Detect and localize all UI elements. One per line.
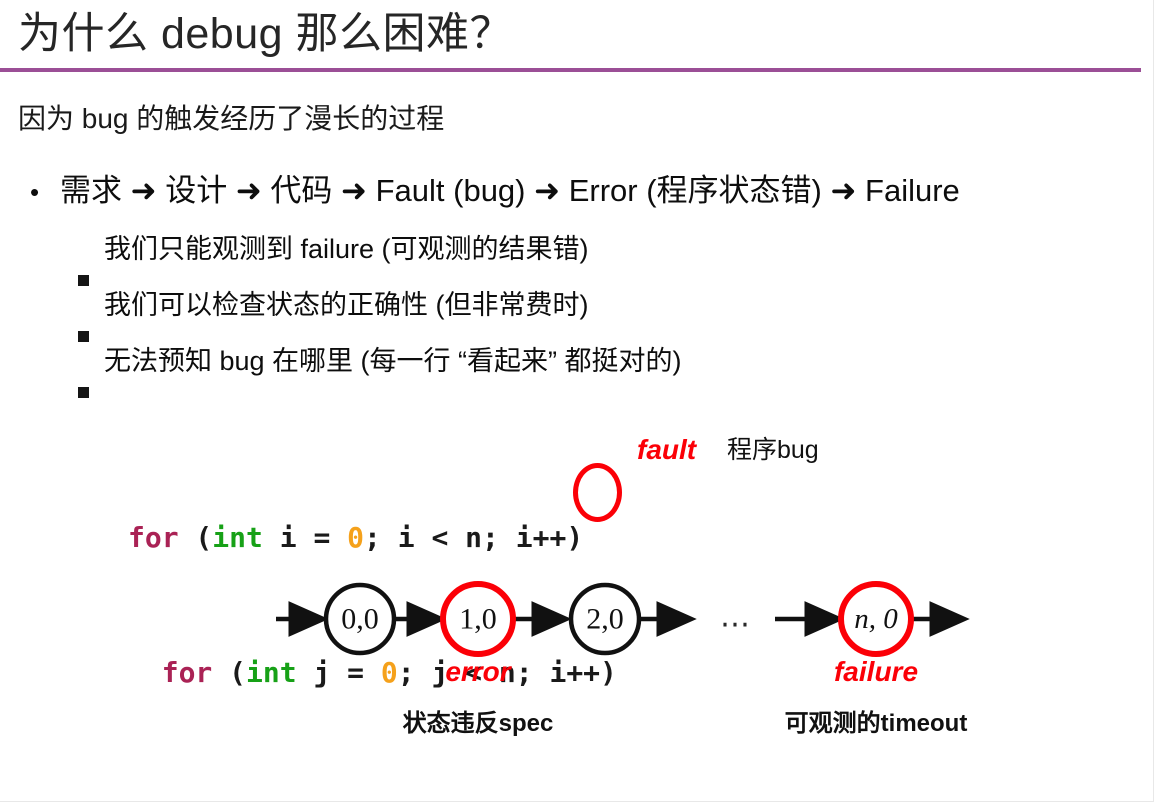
error-label: error bbox=[408, 656, 548, 688]
sub-bullet-unknown-bug: 无法预知 bug 在哪里 (每一行 “看起来” 都挺对的) bbox=[78, 341, 682, 381]
sub-bullet-label: 无法预知 bug 在哪里 (每一行 “看起来” 都挺对的) bbox=[104, 341, 682, 381]
caption-spec-violation: 状态违反spec bbox=[388, 703, 568, 738]
sub-bullet-check-state: 我们可以检查状态的正确性 (但非常费时) bbox=[78, 285, 588, 325]
title-divider bbox=[0, 68, 1141, 72]
fault-annotation-label: fault bbox=[637, 430, 696, 470]
code-token: ( bbox=[179, 521, 213, 554]
page-title: 为什么 debug 那么困难？ bbox=[18, 6, 513, 62]
slide-canvas: 为什么 debug 那么困难？ 因为 bug 的触发经历了漫长的过程 • 需求 … bbox=[0, 0, 1154, 802]
sub-bullet-observe-failure: 我们只能观测到 failure (可观测的结果错) bbox=[78, 229, 589, 269]
red-circle-highlight-icon bbox=[573, 463, 622, 522]
code-token: 0 bbox=[347, 521, 364, 554]
caption-observable-timeout: 可观测的timeout bbox=[770, 703, 982, 738]
state-label-0: 0,0 bbox=[341, 603, 379, 636]
code-token: ... bbox=[128, 791, 246, 802]
state-label-n: n, 0 bbox=[854, 603, 898, 635]
state-label-1: 1,0 bbox=[459, 603, 497, 636]
fault-annotation-note: 程序bug bbox=[727, 430, 819, 470]
code-token: ; i < n; i++) bbox=[364, 521, 583, 554]
state-diagram: 0,0 1,0 2,0 n, 0 ⋯ error failure bbox=[0, 560, 1154, 690]
bullet-marker-dot: • bbox=[30, 171, 60, 213]
code-token: for bbox=[128, 521, 179, 554]
sub-bullet-label: 我们只能观测到 failure (可观测的结果错) bbox=[104, 229, 589, 269]
state-diagram-svg: 0,0 1,0 2,0 n, 0 bbox=[0, 560, 1154, 690]
diagram-ellipsis: ⋯ bbox=[720, 610, 755, 640]
sub-bullet-label: 我们可以检查状态的正确性 (但非常费时) bbox=[104, 285, 588, 325]
code-token: i = bbox=[263, 521, 347, 554]
code-line-3: ... bbox=[128, 785, 617, 802]
subtitle-text: 因为 bug 的触发经历了漫长的过程 bbox=[18, 100, 444, 138]
code-line-1: for (int i = 0; i < n; i++) bbox=[128, 515, 617, 560]
bullet-item-pipeline: • 需求 ➜ 设计 ➜ 代码 ➜ Fault (bug) ➜ Error (程序… bbox=[30, 170, 960, 213]
bullet-label: 需求 ➜ 设计 ➜ 代码 ➜ Fault (bug) ➜ Error (程序状态… bbox=[60, 170, 960, 212]
state-label-2: 2,0 bbox=[586, 603, 624, 636]
code-token: int bbox=[212, 521, 263, 554]
failure-label: failure bbox=[800, 656, 952, 688]
